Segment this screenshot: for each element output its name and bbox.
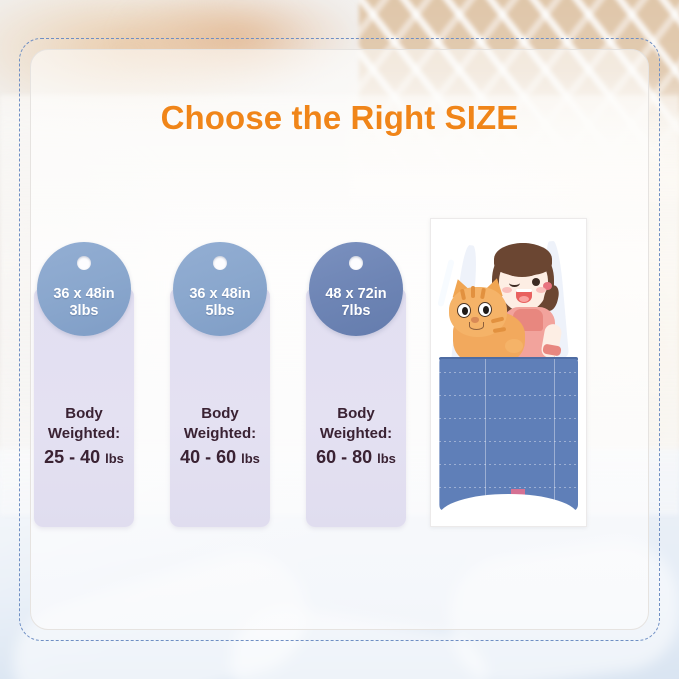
tag-hole-icon	[213, 256, 227, 270]
tag-range-unit: lbs	[377, 451, 396, 466]
tag-range-value: 60 - 80	[316, 447, 372, 467]
size-guide-banner: Choose the Right SIZE 36 x 48in 3lbs Bod…	[0, 0, 679, 679]
page-title: Choose the Right SIZE	[0, 99, 679, 137]
cat-pupil-right	[483, 306, 489, 314]
tag-body-weight-info: Body Weighted: 25 - 40 lbs	[34, 404, 134, 471]
tag-range-unit: lbs	[241, 451, 260, 466]
tag-body-weight-info: Body Weighted: 40 - 60 lbs	[170, 404, 270, 471]
cat-pupil-left	[462, 307, 468, 315]
tag-circle: 48 x 72in 7lbs	[309, 242, 403, 336]
illustration-bottom-margin	[431, 512, 586, 526]
tag-range-value: 40 - 60	[180, 447, 236, 467]
tag-hole-icon	[349, 256, 363, 270]
product-illustration-card	[430, 218, 587, 527]
tag-hole-icon	[77, 256, 91, 270]
cat-stripe	[471, 286, 475, 298]
tag-dimensions: 36 x 48in	[37, 286, 131, 303]
cat-paw	[505, 339, 523, 353]
tag-body-weight-info: Body Weighted: 60 - 80 lbs	[306, 404, 406, 471]
tag-label-line2: Weighted:	[34, 424, 134, 444]
tag-label-line2: Weighted:	[170, 424, 270, 444]
girl-cheek-right	[536, 287, 546, 293]
product-illustration	[431, 219, 586, 526]
tag-label-line2: Weighted:	[306, 424, 406, 444]
girl-bangs	[494, 243, 552, 275]
size-tag-small[interactable]: 36 x 48in 3lbs Body Weighted: 25 - 40 lb…	[34, 242, 134, 527]
size-tag-large[interactable]: 48 x 72in 7lbs Body Weighted: 60 - 80 lb…	[306, 242, 406, 527]
tag-label-line1: Body	[306, 404, 406, 424]
tag-blanket-weight: 5lbs	[173, 303, 267, 320]
tag-range-value: 25 - 40	[44, 447, 100, 467]
girl-eye-right	[532, 278, 540, 286]
tag-dimensions: 48 x 72in	[309, 286, 403, 303]
tag-range: 60 - 80 lbs	[306, 445, 406, 471]
cat-mouth	[469, 322, 484, 330]
girl-eye-wink	[509, 279, 520, 287]
tag-range: 25 - 40 lbs	[34, 445, 134, 471]
weighted-blanket	[439, 359, 578, 511]
girl-mouth	[516, 289, 532, 303]
size-tag-group: 36 x 48in 3lbs Body Weighted: 25 - 40 lb…	[34, 242, 424, 532]
tag-label-line1: Body	[34, 404, 134, 424]
tag-blanket-weight: 7lbs	[309, 303, 403, 320]
size-tag-medium[interactable]: 36 x 48in 5lbs Body Weighted: 40 - 60 lb…	[170, 242, 270, 527]
tag-range: 40 - 60 lbs	[170, 445, 270, 471]
tag-circle: 36 x 48in 3lbs	[37, 242, 131, 336]
tag-range-unit: lbs	[105, 451, 124, 466]
tag-blanket-weight: 3lbs	[37, 303, 131, 320]
tag-dimensions: 36 x 48in	[173, 286, 267, 303]
tag-circle: 36 x 48in 5lbs	[173, 242, 267, 336]
tag-label-line1: Body	[170, 404, 270, 424]
